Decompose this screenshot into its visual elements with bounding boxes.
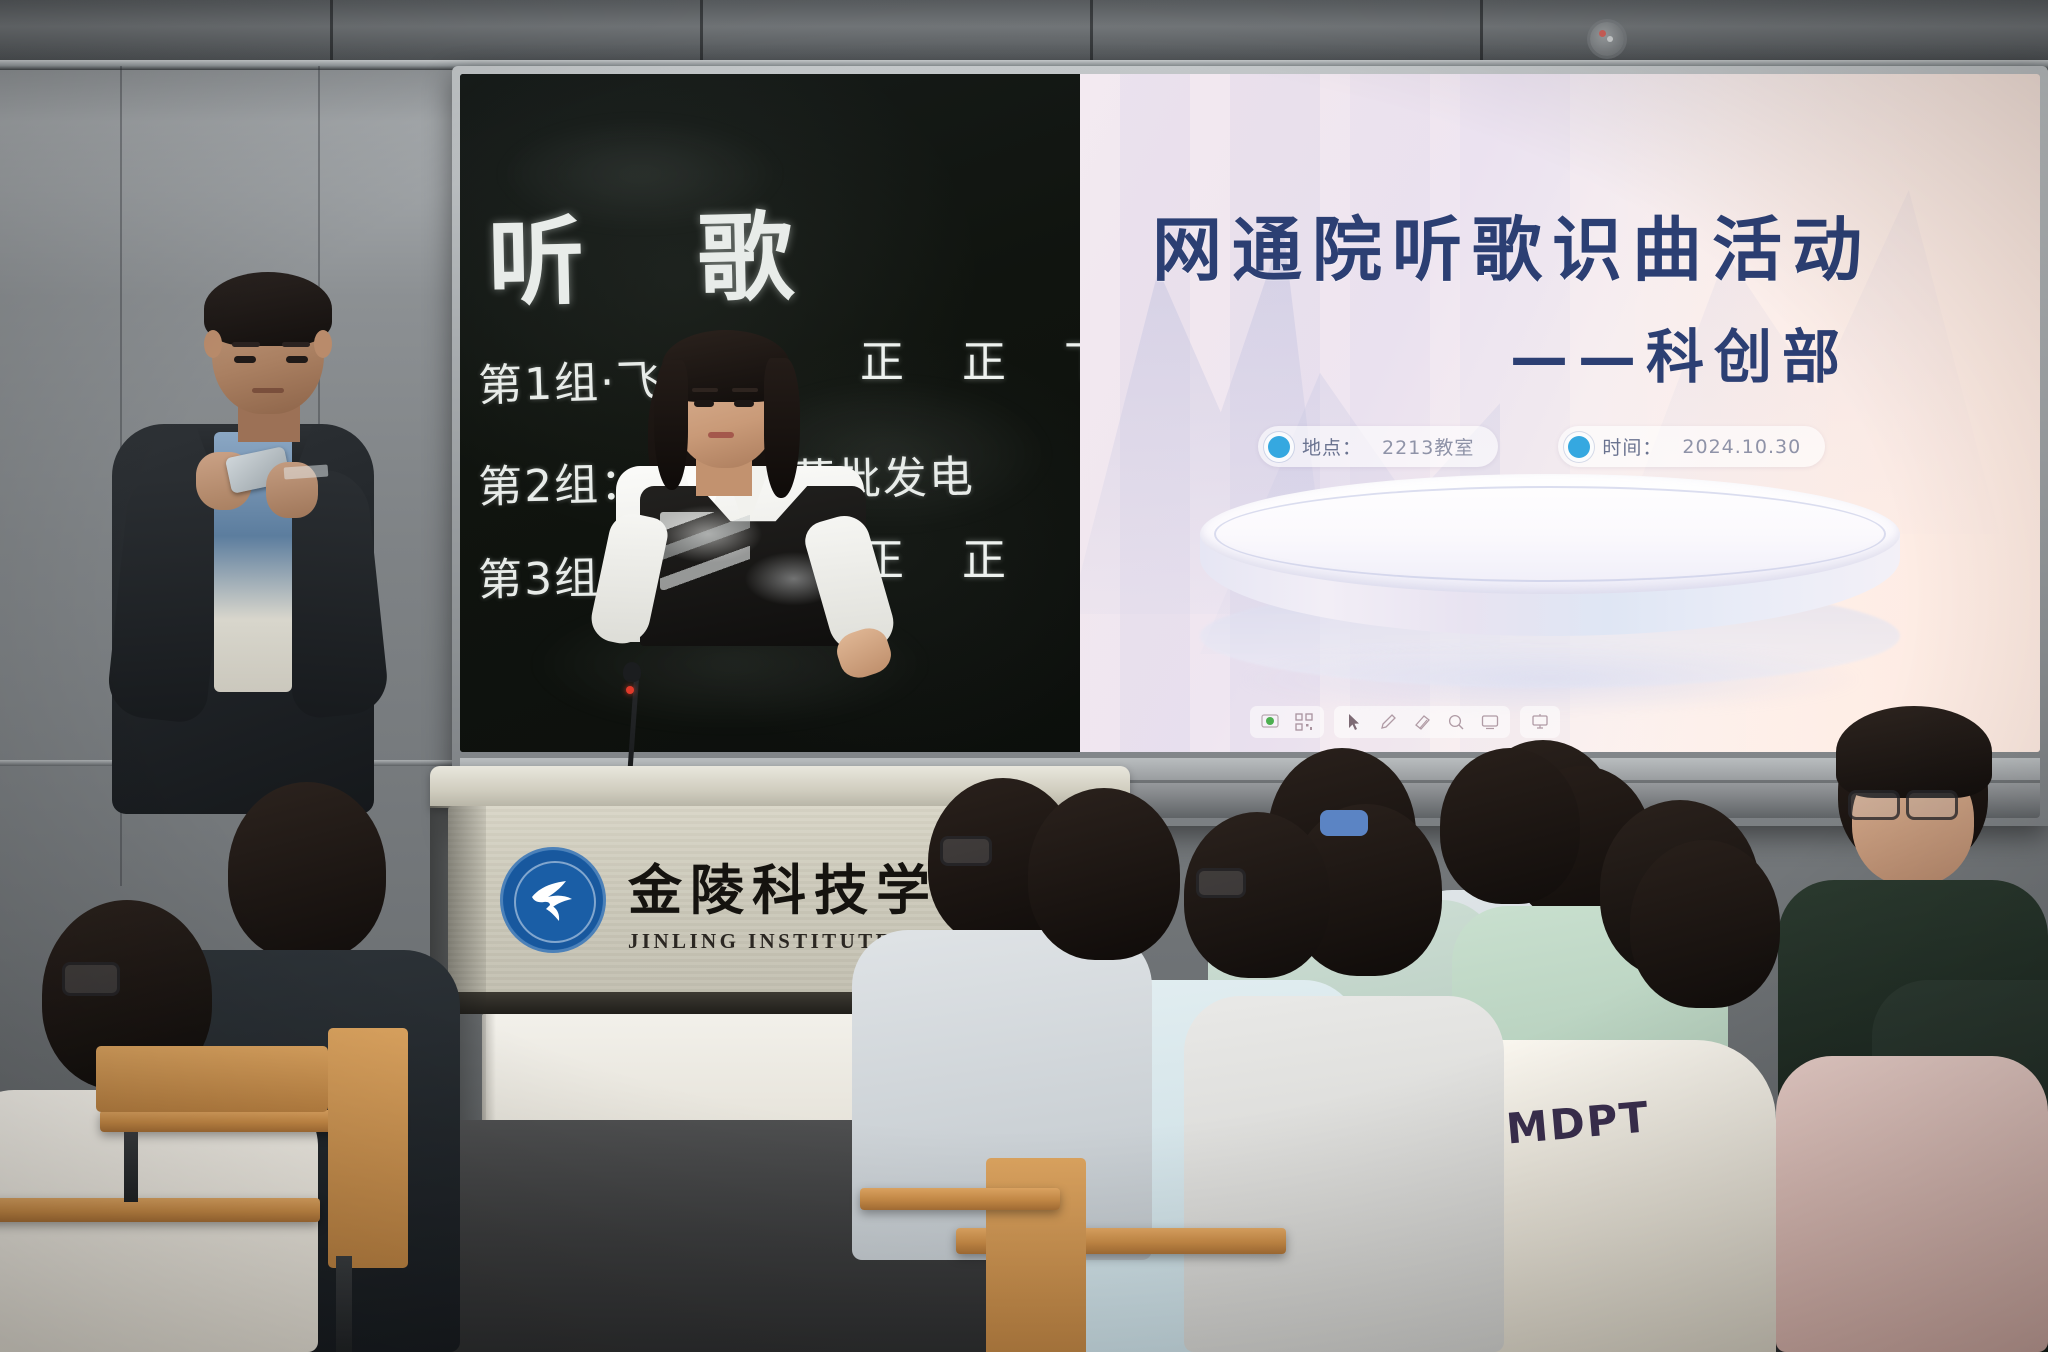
slide-title: 网通院听歌识曲活动 [1152, 194, 1872, 295]
slide-subtitle: ——科创部 [1510, 310, 1850, 394]
ceiling-seam [700, 0, 703, 66]
desk [860, 1188, 1060, 1210]
ceiling-seam [1480, 0, 1483, 66]
ceiling-seam [1090, 0, 1093, 66]
desk-leg [336, 1256, 352, 1352]
chalkboard-group-3-tally: 正 正 [860, 524, 1028, 588]
cursor-arrow-icon[interactable] [1341, 710, 1367, 734]
time-value: 2024.10.30 [1682, 436, 1801, 458]
slide-pill-time: 时间： 2024.10.30 [1558, 426, 1825, 467]
smoke-detector-icon [1590, 22, 1624, 56]
screen-toolbar[interactable] [1250, 706, 1560, 738]
toolbar-group-left[interactable] [1250, 706, 1324, 738]
location-value: 2213教室 [1382, 433, 1474, 460]
desk [0, 1198, 320, 1222]
presentation-green-icon[interactable] [1257, 710, 1283, 734]
chair-back [96, 1046, 328, 1112]
qrcode-icon[interactable] [1291, 710, 1317, 734]
toolbar-group-right[interactable] [1520, 706, 1560, 738]
chalkboard-group-1-tally: 正 正 下 [860, 326, 1080, 390]
annotate-icon[interactable] [1527, 710, 1553, 734]
slide-pill-location: 地点： 2213教室 [1258, 426, 1498, 467]
location-dot-icon [1268, 436, 1290, 458]
eraser-icon[interactable] [1409, 710, 1435, 734]
chalkboard-headline: 听 歌 [487, 178, 835, 324]
ceiling-seam [330, 0, 333, 66]
time-dot-icon [1568, 436, 1590, 458]
ceiling-band [0, 0, 2048, 66]
crest-bird-icon [526, 875, 580, 925]
pedestal-graphic [1200, 474, 1900, 674]
desk-leg [124, 1132, 138, 1202]
classroom-scene: 听 歌 第1组·飞虎队 正 正 下 第2组：AAA老蒋批发电 第3组 OiOi … [0, 0, 2048, 1352]
toolbar-group-tools[interactable] [1334, 706, 1510, 738]
pen-icon[interactable] [1375, 710, 1401, 734]
time-label: 时间： [1602, 433, 1662, 460]
screen-icon[interactable] [1477, 710, 1503, 734]
presentation-screen[interactable]: 网通院听歌识曲活动 ——科创部 地点： 2213教室 时间： 2024.10.3… [1080, 74, 2040, 752]
jit-crest-icon [500, 847, 606, 953]
magnifier-icon[interactable] [1443, 710, 1469, 734]
slide-info-pills: 地点： 2213教室 时间： 2024.10.30 [1258, 426, 1825, 467]
chair-back [328, 1028, 408, 1268]
location-label: 地点： [1302, 433, 1362, 460]
